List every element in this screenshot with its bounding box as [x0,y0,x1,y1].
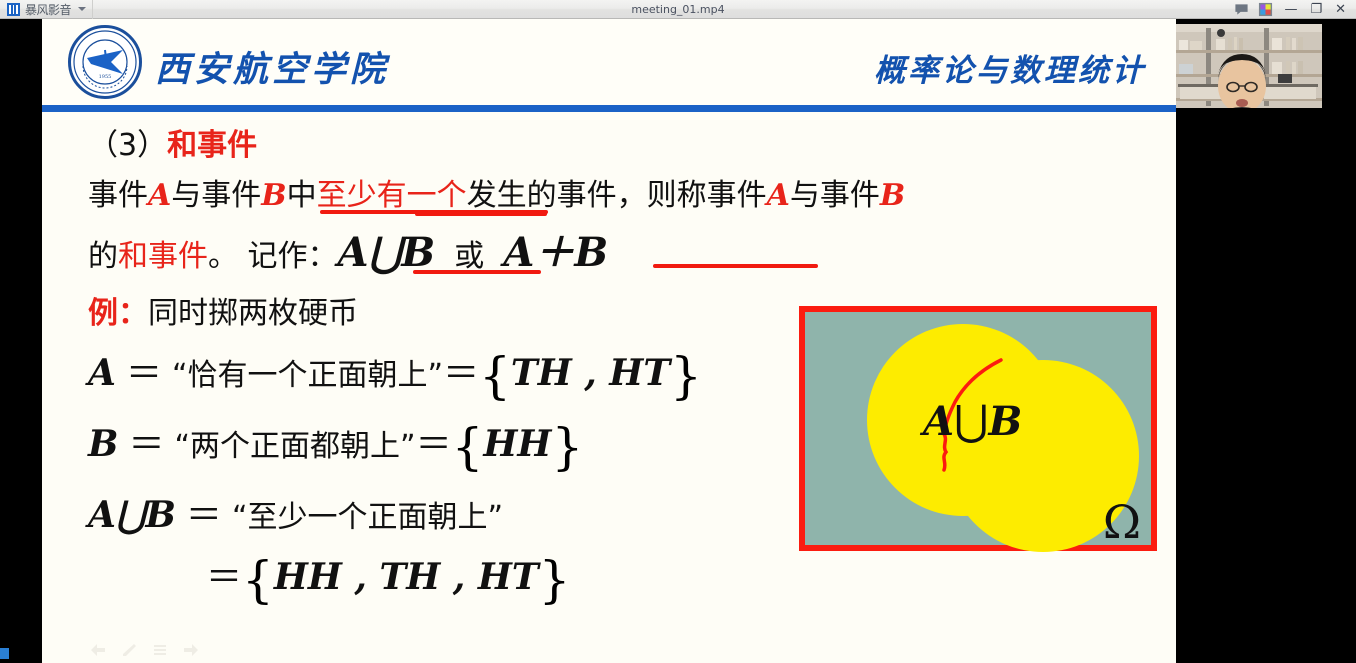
course-title: 概率论与数理统计 [874,45,1146,90]
minimize-button[interactable]: — [1282,3,1299,16]
slide-header: 1955 西安航空学院 概率论与数理统计 [42,19,1176,105]
def-text-d: 发生的事件，则称事件 [467,178,767,213]
section-title: 和事件 [167,128,257,163]
equation-union-set: ＝{HH , TH , HT} [88,548,1176,609]
letterbox-left [0,19,42,663]
menu-icon[interactable] [152,643,168,657]
eq-A-brace-open: { [479,347,511,405]
header-divider [42,105,1176,112]
def2-or: 或 [454,239,484,274]
eq-A-equals-2: ＝ [443,353,479,394]
example-text: 同时掷两枚硬币 [148,296,358,331]
red-underline-plus [653,264,818,268]
eq-B-equals-2: ＝ [416,424,452,465]
school-name: 西安航空学院 [155,41,389,92]
letterbox-right [1176,117,1356,663]
svg-text:1955: 1955 [99,74,112,80]
venn-label: A⋃B [923,396,1022,445]
eq-A-equals-1: ＝ [126,353,162,394]
eq-union-set: HH , TH , HT [274,556,539,598]
def-text-b: 与事件 [171,178,261,213]
definition-line-1: 事件A与事件B中至少有一个发生的事件，则称事件A与事件B [88,170,1176,214]
eq-B-brace-open: { [452,418,484,476]
window-titlebar: 暴风影音 meeting_01.mp4 — ❐ [0,0,1356,19]
def-text-a: 事件 [88,178,148,213]
definition-line-2: 的和事件。 记作：A⋃B 或 A＋B [88,220,1176,278]
def-var-A: A [148,178,171,213]
eq-union-equals: ＝ [186,495,222,536]
arrow-left-icon[interactable] [90,643,106,657]
eq-A-set: TH , HT [511,352,670,394]
example-label: 例： [88,296,148,331]
app-brand-label: 暴风影音 [25,1,71,18]
video-stage[interactable]: 1955 西安航空学院 概率论与数理统计 （3）和事件 事件A与事件B中至少有一… [0,19,1356,663]
def2-text-b: 。 记作： [208,239,338,274]
eq-union-set-equals: ＝ [206,557,242,598]
section-number: （3） [88,128,167,163]
eq-union-var: A⋃B [88,494,176,536]
eq-B-var: B [88,423,118,465]
window-title: meeting_01.mp4 [0,3,1356,16]
eq-A-brace-close: } [670,347,702,405]
def2-highlight-sumevent: 和事件 [118,239,208,274]
def2-text-a: 的 [88,239,118,274]
arrow-right-icon[interactable] [183,643,199,657]
restore-button[interactable]: ❐ [1308,3,1324,16]
def-highlight-atleastone: 至少有一个 [317,178,467,213]
def-var-B2: B [880,178,905,213]
eq-B-set: HH [483,423,551,465]
playback-indicator [0,648,9,659]
close-button[interactable]: ✕ [1333,3,1348,16]
eq-union-description: “至少一个正面朝上” [232,500,503,535]
red-underline-union-top [415,212,547,216]
university-logo-icon: 1955 [68,25,142,99]
media-player-window: 暴风影音 meeting_01.mp4 — ❐ [0,0,1356,663]
notation-plus: A＋B [503,229,608,276]
eq-B-description: “两个正面都朝上” [174,429,415,464]
eq-B-brace-close: } [551,418,583,476]
app-brand-menu[interactable]: 暴风影音 [0,0,93,19]
color-palette-icon[interactable] [1258,2,1273,17]
eq-A-description: “恰有一个正面朝上” [172,358,443,393]
venn-diagram: A⋃B Ω [799,306,1157,551]
presenter-video-feed[interactable] [1176,24,1322,117]
eq-union-brace-open: { [242,551,274,609]
chevron-down-icon[interactable] [78,7,86,11]
def-var-A2: A [767,178,790,213]
def-text-c: 中 [287,178,317,213]
red-underline-union-bottom [413,270,541,274]
slide-navigation-bar[interactable] [90,643,199,657]
section-heading: （3）和事件 [88,120,1176,164]
window-controls: — ❐ ✕ [1234,0,1354,19]
eq-union-brace-close: } [539,551,571,609]
speech-bubble-icon[interactable] [1234,2,1249,17]
eq-A-var: A [88,352,116,394]
film-strip-icon [7,3,20,16]
presentation-slide: 1955 西安航空学院 概率论与数理统计 （3）和事件 事件A与事件B中至少有一… [42,19,1176,663]
notation-union: A⋃B [338,229,436,276]
pen-icon[interactable] [121,643,137,657]
def-var-B: B [261,178,286,213]
eq-B-equals-1: ＝ [128,424,164,465]
def-text-e: 与事件 [790,178,880,213]
